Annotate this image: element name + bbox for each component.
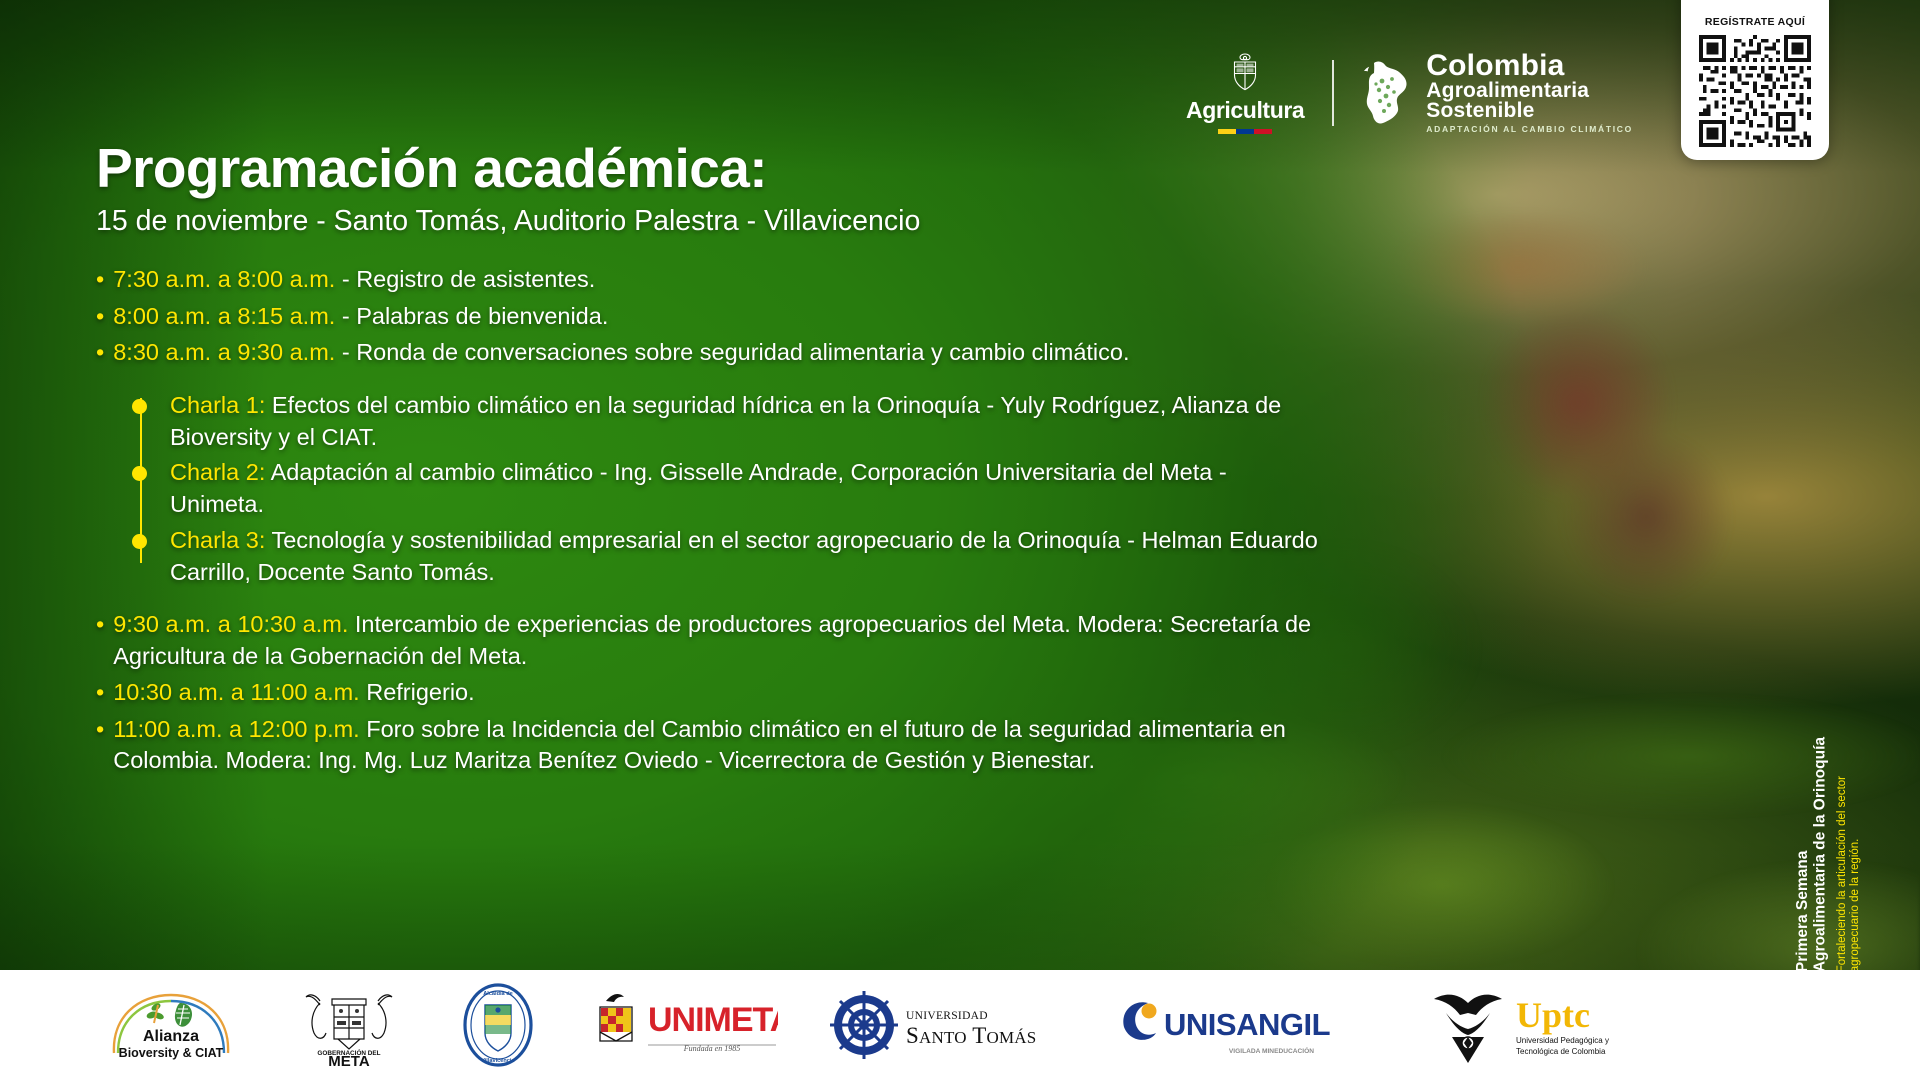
uptc-logo: Uptc Universidad Pedagógica y Tecnológic… [1420, 983, 1655, 1067]
svg-text:META: META [328, 1053, 370, 1067]
list-item: Charla 3: Tecnología y sostenibilidad em… [170, 525, 1326, 589]
sponsor-logo-strip: Alianza Bioversity & CIAT [0, 970, 1920, 1080]
colombia-coat-of-arms-icon [1227, 52, 1263, 94]
charla-text: Adaptación al cambio climático - Ing. Gi… [170, 459, 1227, 517]
bullet-icon: • [96, 337, 104, 368]
svg-text:UNIVERSIDAD: UNIVERSIDAD [906, 1010, 988, 1022]
bullet-icon: • [96, 264, 104, 295]
charla-bullet-icon [132, 534, 147, 549]
agenda-time: 11:00 a.m. a 12:00 p.m. [113, 716, 359, 742]
list-item: • 8:30 a.m. a 9:30 a.m. - Ronda de conve… [96, 337, 1326, 368]
unisangil-logo: UNISANGIL VIGILADA MINEDUCACIÓN [1116, 983, 1376, 1067]
charlas-list: Charla 1: Efectos del cambio climático e… [96, 390, 1326, 590]
program-content: Programación académica: 15 de noviembre … [96, 140, 1326, 782]
ministry-of-agriculture-logo: Agricultura [1186, 52, 1332, 134]
colombia-agroalimentaria-sostenible-logo: Colombia Agroalimentaria Sostenible ADAP… [1334, 52, 1633, 133]
list-item: • 9:30 a.m. a 10:30 a.m. Intercambio de … [96, 609, 1326, 672]
agenda-text: - Palabras de bienvenida. [335, 303, 608, 329]
bullet-icon: • [96, 301, 104, 332]
bullet-icon: • [96, 677, 104, 708]
svg-text:UNIMETA: UNIMETA [648, 1001, 778, 1039]
agenda-list-top: • 7:30 a.m. a 8:00 a.m. - Registro de as… [96, 264, 1326, 368]
agenda-entry: 10:30 a.m. a 11:00 a.m. Refrigerio. [113, 677, 1326, 708]
svg-text:Alcaldía de: Alcaldía de [483, 991, 513, 997]
agenda-entry: 9:30 a.m. a 10:30 a.m. Intercambio de ex… [113, 609, 1326, 672]
svg-text:Alianza: Alianza [143, 1028, 199, 1045]
svg-text:Uptc: Uptc [1516, 995, 1590, 1035]
program-line-2: Agroalimentaria [1426, 81, 1633, 101]
agenda-entry: 8:00 a.m. a 8:15 a.m. - Palabras de bien… [113, 301, 1326, 332]
colombia-map-icon [1360, 59, 1416, 127]
list-item: • 7:30 a.m. a 8:00 a.m. - Registro de as… [96, 264, 1326, 295]
universidad-santo-tomas-logo: UNIVERSIDAD SANTO TOMÁS [822, 983, 1072, 1067]
program-line-1: Colombia [1426, 52, 1633, 81]
list-item: • 8:00 a.m. a 8:15 a.m. - Palabras de bi… [96, 301, 1326, 332]
agenda-entry: 11:00 a.m. a 12:00 p.m. Foro sobre la In… [113, 714, 1326, 777]
colombia-flag-icon [1218, 129, 1272, 134]
qr-code-icon[interactable] [1699, 35, 1811, 147]
vertical-event-title: Primera Semana Agroalimentaria de la Ori… [1794, 737, 1829, 972]
vertical-event-tagline: Fortaleciendo la articulación del sector… [1836, 776, 1862, 972]
charla-label: Charla 3: [170, 527, 265, 553]
agenda-entry: 8:30 a.m. a 9:30 a.m. - Ronda de convers… [113, 337, 1326, 368]
agenda-text: Refrigerio. [360, 679, 475, 705]
svg-text:SANTO TOMÁS: SANTO TOMÁS [906, 1023, 1036, 1048]
ministry-wordmark: Agricultura [1186, 97, 1304, 124]
program-line-3: Sostenible [1426, 101, 1633, 121]
qr-card-title: REGÍSTRATE AQUÍ [1705, 16, 1805, 28]
charla-bullet-icon [132, 399, 147, 414]
charla-bullet-icon [132, 466, 147, 481]
svg-text:VIGILADA MINEDUCACIÓN: VIGILADA MINEDUCACIÓN [1229, 1046, 1314, 1055]
brand-lockup: Agricultura [1186, 52, 1633, 134]
agenda-entry: 7:30 a.m. a 8:00 a.m. - Registro de asis… [113, 264, 1326, 295]
svg-text:Tecnológica de Colombia: Tecnológica de Colombia [1516, 1047, 1606, 1056]
agenda-text: - Ronda de conversaciones sobre segurida… [335, 339, 1129, 365]
svg-text:Bioversity & CIAT: Bioversity & CIAT [119, 1046, 224, 1060]
list-item: Charla 1: Efectos del cambio climático e… [170, 390, 1326, 454]
agenda-time: 8:00 a.m. a 8:15 a.m. [113, 303, 335, 329]
page-subtitle: 15 de noviembre - Santo Tomás, Auditorio… [96, 205, 1326, 238]
unimeta-logo: UNIMETA Fundada en 1985 [588, 983, 778, 1067]
alcaldia-de-villavicencio-logo: Alcaldía de Villavicencio [452, 983, 544, 1067]
svg-text:Fundada en 1985: Fundada en 1985 [683, 1044, 740, 1053]
page-title: Programación académica: [96, 140, 1326, 196]
registration-qr-card[interactable]: REGÍSTRATE AQUÍ [1681, 0, 1829, 160]
agenda-time: 7:30 a.m. a 8:00 a.m. [113, 266, 335, 292]
list-item: Charla 2: Adaptación al cambio climático… [170, 457, 1326, 521]
svg-text:Universidad Pedagógica y: Universidad Pedagógica y [1516, 1036, 1609, 1045]
svg-text:UNISANGIL: UNISANGIL [1164, 1007, 1330, 1042]
agenda-time: 8:30 a.m. a 9:30 a.m. [113, 339, 335, 365]
charla-text: Tecnología y sostenibilidad empresarial … [170, 527, 1318, 585]
list-item: • 10:30 a.m. a 11:00 a.m. Refrigerio. [96, 677, 1326, 708]
charla-label: Charla 2: [170, 459, 265, 485]
charla-text: Efectos del cambio climático en la segur… [170, 392, 1281, 450]
agenda-list-bottom: • 9:30 a.m. a 10:30 a.m. Intercambio de … [96, 609, 1326, 776]
alianza-bioversity-ciat-logo: Alianza Bioversity & CIAT [96, 983, 246, 1067]
list-item: • 11:00 a.m. a 12:00 p.m. Foro sobre la … [96, 714, 1326, 777]
gobernacion-del-meta-logo: GOBERNACIÓN DEL META [290, 983, 408, 1067]
agenda-time: 9:30 a.m. a 10:30 a.m. [113, 611, 348, 637]
charla-label: Charla 1: [170, 392, 265, 418]
bullet-icon: • [96, 609, 104, 640]
vertical-event-branding: Primera Semana Agroalimentaria de la Ori… [1794, 737, 1862, 972]
agenda-text: - Registro de asistentes. [335, 266, 595, 292]
program-tagline: ADAPTACIÓN AL CAMBIO CLIMÁTICO [1426, 125, 1633, 133]
bullet-icon: • [96, 714, 104, 745]
svg-text:Villavicencio: Villavicencio [481, 1058, 515, 1064]
agenda-time: 10:30 a.m. a 11:00 a.m. [113, 679, 359, 705]
poster-canvas: Agricultura [0, 0, 1920, 1080]
program-wordmark: Colombia Agroalimentaria Sostenible ADAP… [1426, 52, 1633, 133]
